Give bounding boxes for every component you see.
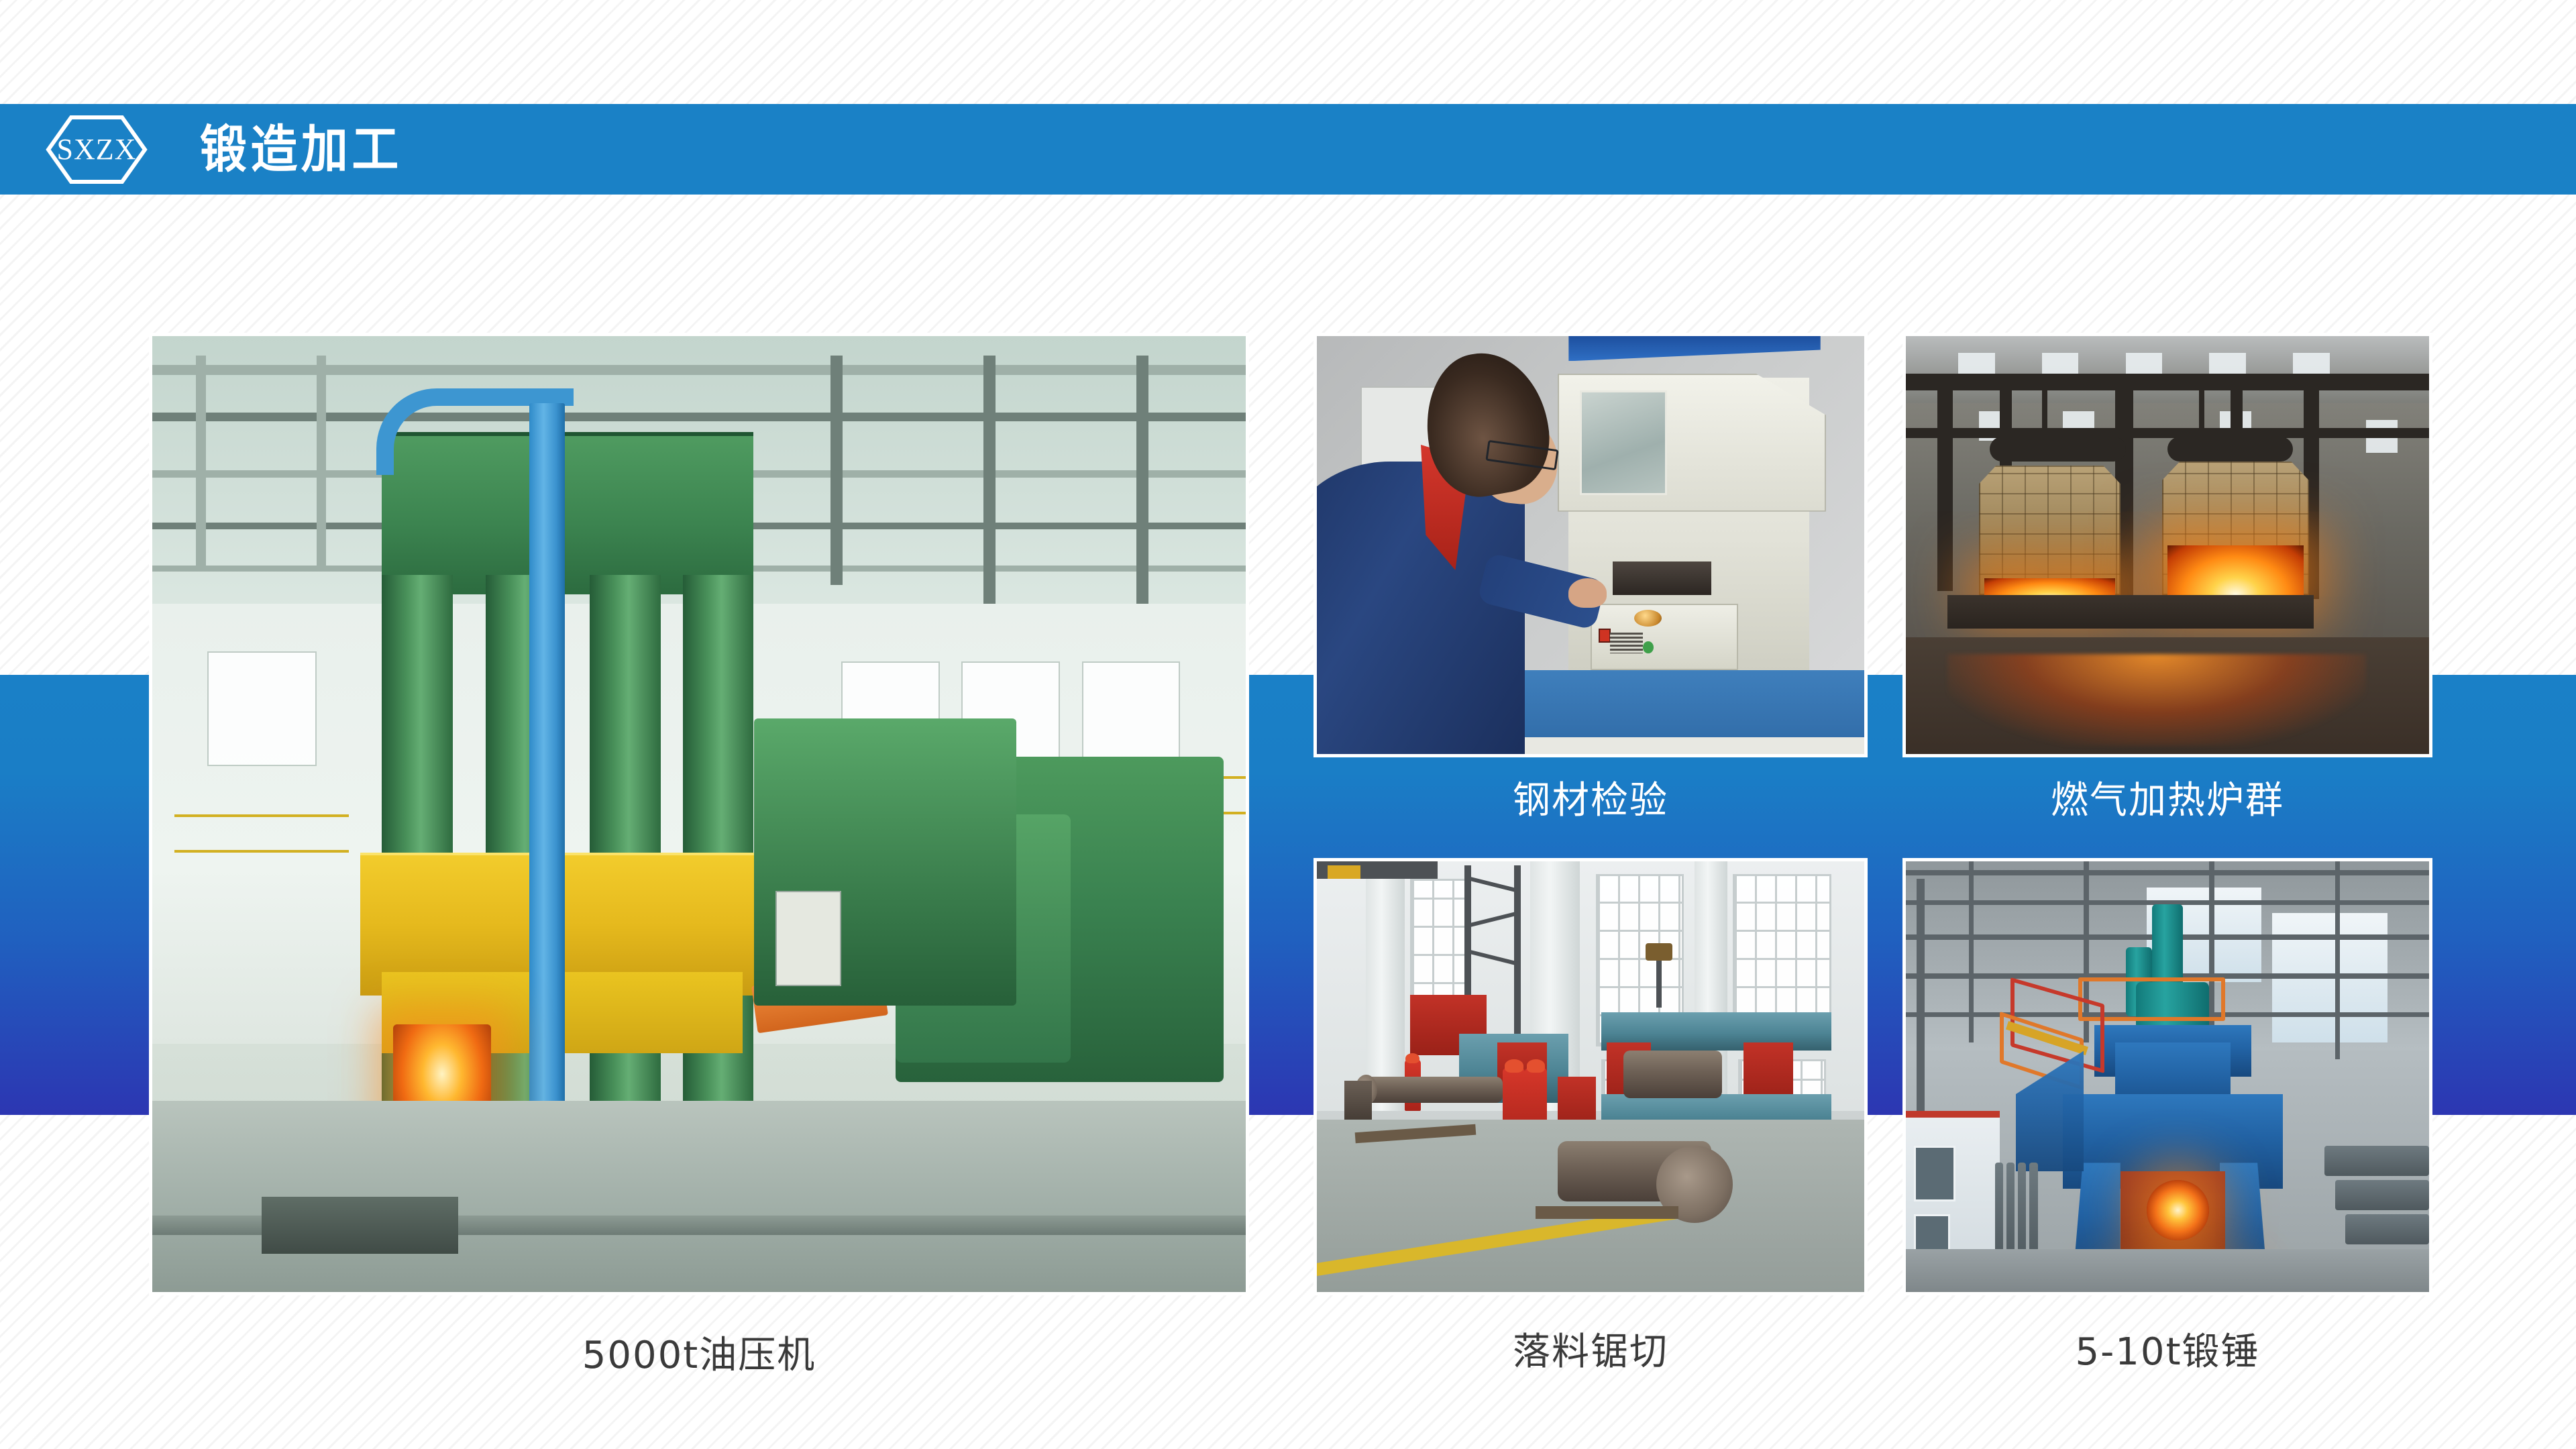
page-title: 锻造加工 [200, 124, 402, 175]
caption-steel-inspection: 钢材检验 [1313, 770, 1868, 824]
logo-text: SXZX [57, 132, 137, 166]
photo-billet-sawing [1313, 858, 1868, 1295]
caption-gas-furnaces: 燃气加热炉群 [1902, 770, 2432, 824]
header-band: SXZX 锻造加工 [0, 104, 2576, 195]
slide-background: SXZX 锻造加工 [0, 0, 2576, 1449]
caption-press: 5000t油压机 [149, 1325, 1249, 1379]
photo-steel-inspection [1313, 333, 1868, 757]
hexagon-logo-icon: SXZX [46, 115, 148, 184]
caption-billet-sawing: 落料锯切 [1313, 1322, 1868, 1376]
caption-forging-hammer: 5-10t锻锤 [1902, 1322, 2432, 1376]
photo-press [149, 333, 1249, 1295]
photo-gas-furnaces [1902, 333, 2432, 757]
photo-forging-hammer [1902, 858, 2432, 1295]
